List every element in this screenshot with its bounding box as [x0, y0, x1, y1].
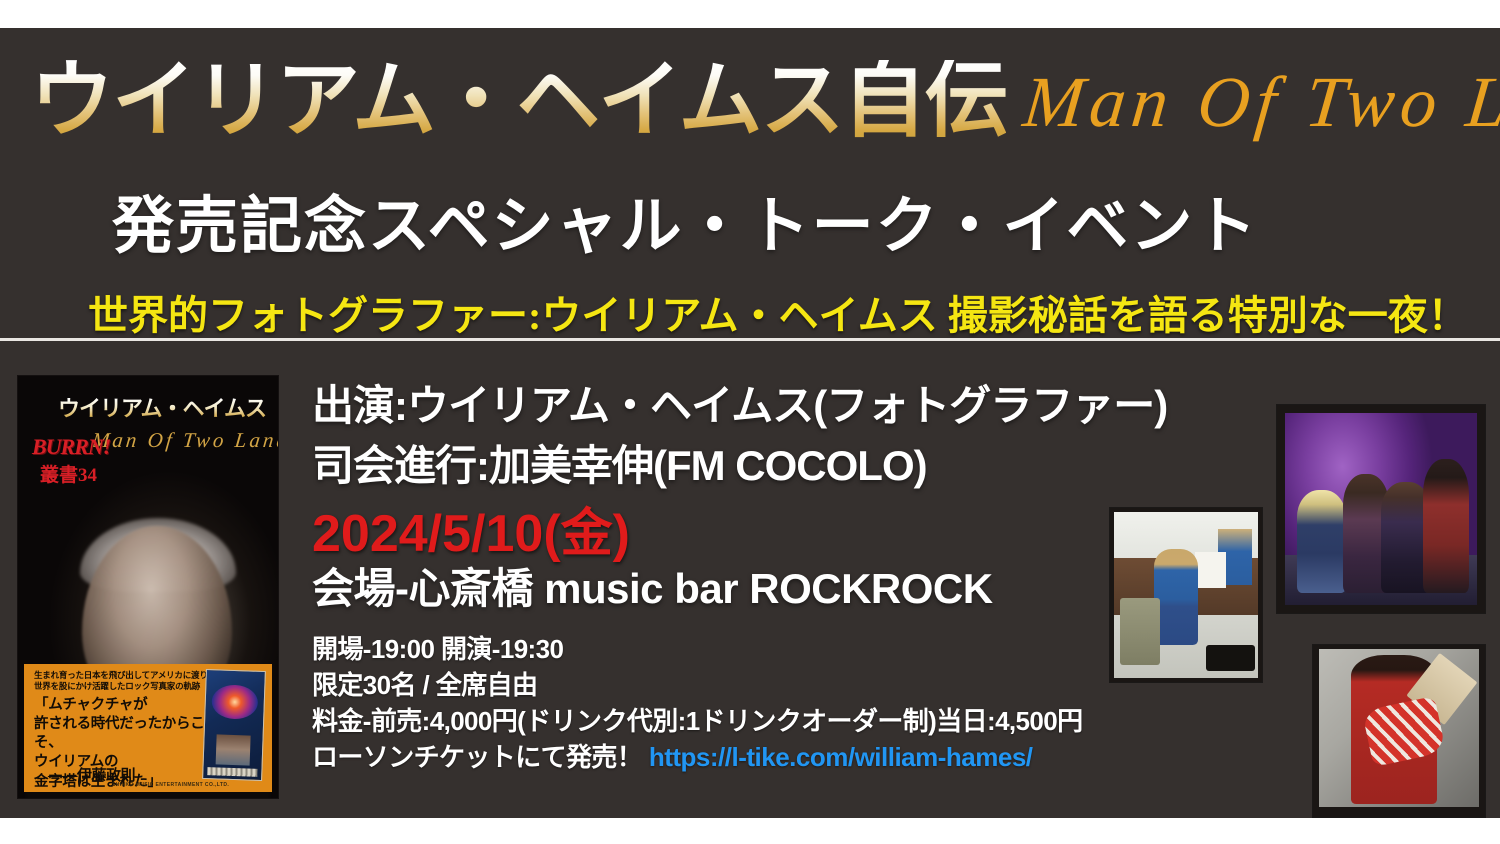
book-obi-band: 生まれ育った日本を飛び出してアメリカに渡り世界を股にかけ活躍したロック写真家の軌…: [24, 664, 272, 792]
ticket-url-link[interactable]: https://l-tike.com/william-hames/: [649, 742, 1033, 772]
poster-title-script: Man Of Two Lands: [1020, 61, 1500, 144]
photo-guitarist-red-suit-image: [1319, 649, 1479, 807]
event-host: 司会進行:加美幸伸(FM COCOLO): [312, 436, 1272, 496]
rehearsal-sheet-music: [1195, 552, 1227, 589]
header-divider: [0, 338, 1500, 341]
photo-guitarist-rehearsal-image: [1114, 512, 1258, 678]
poster-header: ウイリアム・ヘイムス自伝Man Of Two Lands 発売記念スペシャル・ト…: [0, 28, 1500, 338]
band-member-4: [1423, 459, 1469, 593]
title-row: ウイリアム・ヘイムス自伝Man Of Two Lands: [30, 60, 1480, 170]
event-cast: 出演:ウイリアム・ヘイムス(フォトグラファー): [312, 376, 1272, 436]
book-imprint-logo: BURRN!: [32, 434, 110, 460]
book-cover: ウイリアム・ヘイムス自伝 Man Of Two Lands BURRN! 叢書3…: [18, 376, 278, 798]
photo-guitarist-rehearsal: [1110, 508, 1262, 682]
event-poster: ウイリアム・ヘイムス自伝Man Of Two Lands 発売記念スペシャル・ト…: [0, 28, 1500, 818]
event-price: 料金-前売:4,000円(ドリンク代別:1ドリンクオーダー制)当日:4,500円: [312, 707, 1272, 736]
ticket-label: ローソンチケットにて発売！: [312, 742, 642, 772]
obi-backstage-pass-image: [202, 669, 266, 781]
poster-title-main: ウイリアム・ヘイムス自伝: [30, 60, 1006, 144]
poster-subtitle: 発売記念スペシャル・トーク・イベント: [112, 196, 1258, 258]
book-cover-title: ウイリアム・ヘイムス自伝: [58, 398, 268, 420]
book-cover-script: Man Of Two Lands: [91, 428, 278, 453]
obi-publisher: SHINKO MUSIC ENTERTAINMENT CO.,LTD.: [112, 782, 229, 788]
photo-guitarist-red-suit: [1313, 645, 1485, 817]
pass-burst-graphic: [211, 684, 258, 720]
rehearsal-guitar-case: [1206, 645, 1255, 672]
photo-rock-band: [1277, 405, 1485, 613]
photo-rock-band-image: [1285, 413, 1477, 605]
rehearsal-folding-chair: [1120, 598, 1160, 664]
book-series-number: 叢書34: [40, 460, 97, 487]
rehearsal-seated-guitarist: [1154, 549, 1197, 645]
event-ticket-row: ローソンチケットにて発売！ https://l-tike.com/william…: [312, 743, 1272, 772]
band-member-1: [1297, 490, 1347, 594]
pass-barcode: [207, 767, 257, 777]
pass-portrait: [216, 734, 251, 765]
poster-tagline: 世界的フォトグラファー:ウイリアム・ヘイムス 撮影秘話を語る特別な一夜！: [88, 296, 1468, 336]
obi-lead-text: 生まれ育った日本を飛び出してアメリカに渡り世界を股にかけ活躍したロック写真家の軌…: [34, 670, 212, 693]
